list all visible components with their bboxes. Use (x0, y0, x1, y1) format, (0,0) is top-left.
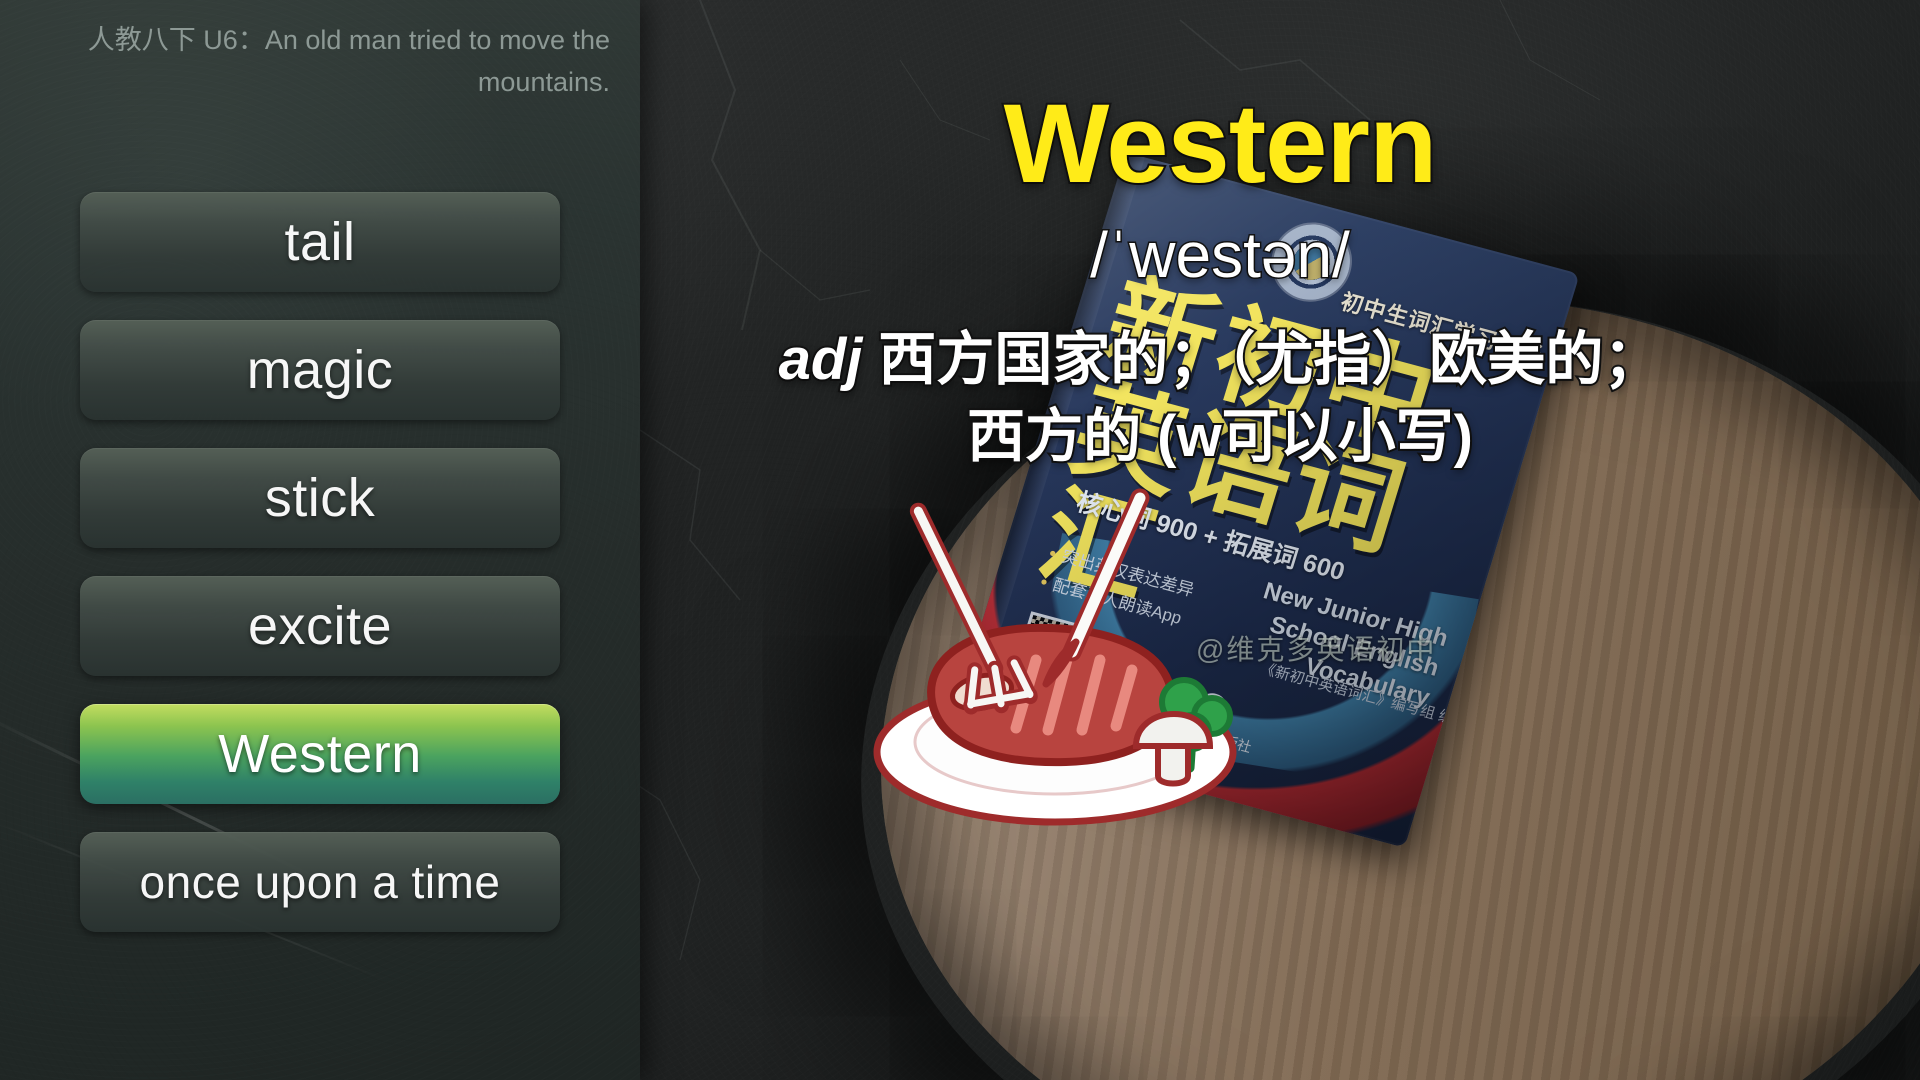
sidebar-item-stick[interactable]: stick (80, 448, 560, 548)
part-of-speech-label: adj (779, 327, 863, 392)
word-list: tail magic stick excite Western once upo… (0, 192, 640, 960)
unit-header-label: 人教八下 U6：An old man tried to move the mou… (8, 20, 628, 104)
definition-block: adj西方国家的；（尤指）欧美的； 西方的 (w可以小写) (520, 322, 1920, 475)
steak-illustration (840, 480, 1260, 840)
sidebar-item-excite[interactable]: excite (80, 576, 560, 676)
sidebar: 人教八下 U6：An old man tried to move the mou… (0, 0, 640, 1080)
definition-text-1: 西方国家的；（尤指）欧美的； (878, 327, 1661, 392)
sidebar-item-western[interactable]: Western (80, 704, 560, 804)
sidebar-item-tail[interactable]: tail (80, 192, 560, 292)
definition-line-2: 西方的 (w可以小写) (520, 399, 1920, 476)
slide-root: 初中生词汇学习用书 新初中英语词汇 核心词 900 + 拓展词 600 New … (0, 0, 1920, 1080)
definition-line-1: adj西方国家的；（尤指）欧美的； (520, 322, 1920, 399)
sidebar-item-once-upon-a-time[interactable]: once upon a time (80, 832, 560, 932)
sidebar-item-magic[interactable]: magic (80, 320, 560, 420)
